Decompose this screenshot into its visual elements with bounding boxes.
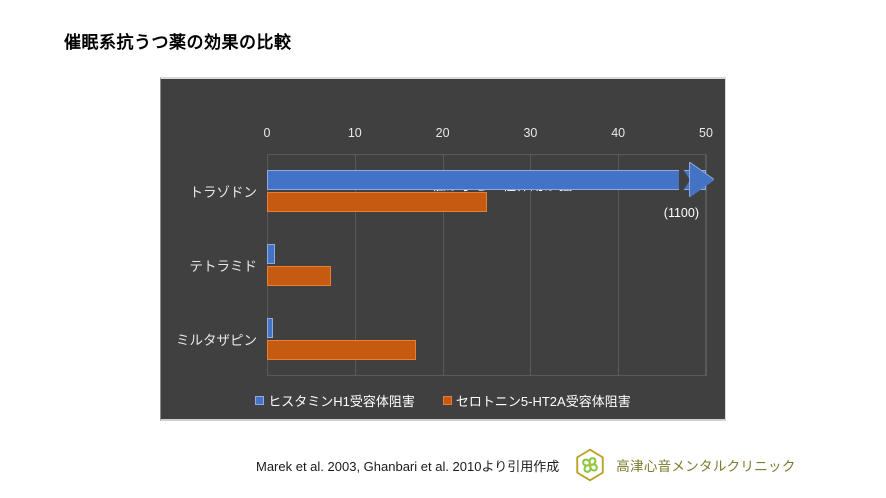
legend-label: ヒスタミンH1受容体阻害 — [268, 391, 415, 410]
plot-border-top — [267, 154, 706, 155]
bar-トラゾドン-セロトニン5-HT2A受容体阻害[interactable] — [267, 192, 487, 212]
arrow-bar-head-icon — [690, 163, 714, 197]
plot-area: トラゾドンテトラミドミルタザピン(1100) — [267, 154, 706, 376]
legend-label: セロトニン5-HT2A受容体阻害 — [456, 391, 631, 410]
page-title: 催眠系抗うつ薬の効果の比較 — [64, 28, 292, 53]
citation-text: Marek et al. 2003, Ghanbari et al. 2010よ… — [160, 456, 559, 475]
x-tick-10: 10 — [348, 126, 362, 140]
clinic-name: 高津心音メンタルクリニック — [616, 455, 795, 475]
plot-border-bottom — [267, 375, 706, 376]
bar-テトラミド-セロトニン5-HT2A受容体阻害[interactable] — [267, 266, 331, 286]
x-tick-50: 50 — [699, 126, 713, 140]
slide-footer: Marek et al. 2003, Ghanbari et al. 2010よ… — [160, 445, 886, 485]
x-tick-40: 40 — [611, 126, 625, 140]
clinic-logo: 高津心音メンタルクリニック — [573, 448, 795, 482]
category-label: テトラミド — [190, 255, 268, 275]
clover-hexagon-icon — [573, 448, 607, 482]
chart-legend: ヒスタミンH1受容体阻害セロトニン5-HT2A受容体阻害 — [161, 391, 725, 410]
legend-item-2[interactable]: セロトニン5-HT2A受容体阻害 — [443, 391, 631, 410]
legend-item-1[interactable]: ヒスタミンH1受容体阻害 — [255, 391, 415, 410]
data-label-trazodone-h1: (1100) — [664, 206, 699, 220]
bar-ミルタザピン-セロトニン5-HT2A受容体阻害[interactable] — [267, 340, 416, 360]
bar-テトラミド-ヒスタミンH1受容体阻害[interactable] — [267, 244, 275, 264]
chart-container[interactable]: 値が小さい程作用が強い 01020304050 トラゾドンテトラミドミルタザピン… — [160, 77, 726, 421]
x-tick-30: 30 — [523, 126, 537, 140]
category-label: ミルタザピン — [176, 329, 267, 349]
bar-ミルタザピン-ヒスタミンH1受容体阻害[interactable] — [267, 318, 273, 338]
slide-canvas: 催眠系抗うつ薬の効果の比較 値が小さい程作用が強い 01020304050 トラ… — [0, 0, 886, 498]
legend-swatch-icon — [443, 396, 452, 405]
x-axis-ticks: 01020304050 — [161, 126, 725, 146]
bar-トラゾドン-ヒスタミンH1受容体阻害[interactable] — [267, 170, 706, 190]
arrow-bar-notch — [679, 163, 690, 197]
x-tick-20: 20 — [436, 126, 450, 140]
category-label: トラゾドン — [190, 181, 268, 201]
x-tick-0: 0 — [264, 126, 271, 140]
legend-swatch-icon — [255, 396, 264, 405]
